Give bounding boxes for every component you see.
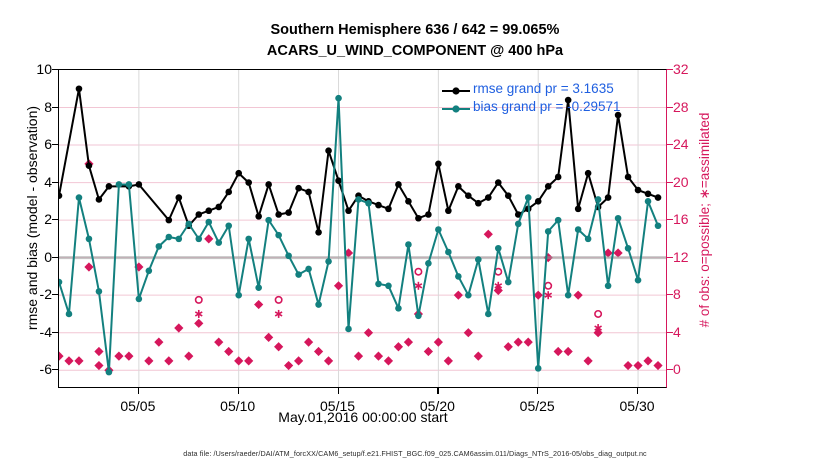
y-tick-mark-right <box>667 257 673 258</box>
y-tick-mark-right <box>667 369 673 370</box>
chart-figure: Southern Hemisphere 636 / 642 = 99.065% … <box>0 0 830 470</box>
legend-row-bias: bias grand pr = -0.29571 <box>441 100 656 118</box>
chart-title: Southern Hemisphere 636 / 642 = 99.065% … <box>0 20 830 62</box>
y-tick-mark-right <box>667 219 673 220</box>
x-tick-mark <box>338 388 339 394</box>
y-tick-mark-right <box>667 294 673 295</box>
y-tick-mark-right <box>667 332 673 333</box>
data-file-footer: data file: /Users/raeder/DAI/ATM_forcXX/… <box>0 449 830 458</box>
legend: rmse grand pr = 3.1635 bias grand pr = -… <box>441 82 656 118</box>
legend-label-bias: bias grand pr = -0.29571 <box>473 99 620 114</box>
title-line-2: ACARS_U_WIND_COMPONENT @ 400 hPa <box>0 41 830 62</box>
y-tick-mark-right <box>667 69 673 70</box>
x-tick-mark <box>637 388 638 394</box>
y-axis-ticks-right: 322824201612840 <box>667 69 727 388</box>
legend-label-rmse: rmse grand pr = 3.1635 <box>473 81 614 96</box>
y-tick-mark-right <box>667 144 673 145</box>
x-tick-mark <box>437 388 438 394</box>
x-tick-mark <box>537 388 538 394</box>
y-axis-ticks-left: 1086420-2-4-6 <box>0 69 58 388</box>
legend-row-rmse: rmse grand pr = 3.1635 <box>441 82 656 100</box>
legend-swatch-rmse <box>441 82 471 100</box>
x-axis-label: May.01,2016 00:00:00 start <box>58 409 668 425</box>
title-line-1: Southern Hemisphere 636 / 642 = 99.065% <box>0 20 830 41</box>
legend-swatch-bias <box>441 100 471 118</box>
y-tick-mark-right <box>667 182 673 183</box>
y-tick-mark-right <box>667 107 673 108</box>
x-tick-mark <box>238 388 239 394</box>
x-tick-mark <box>138 388 139 394</box>
